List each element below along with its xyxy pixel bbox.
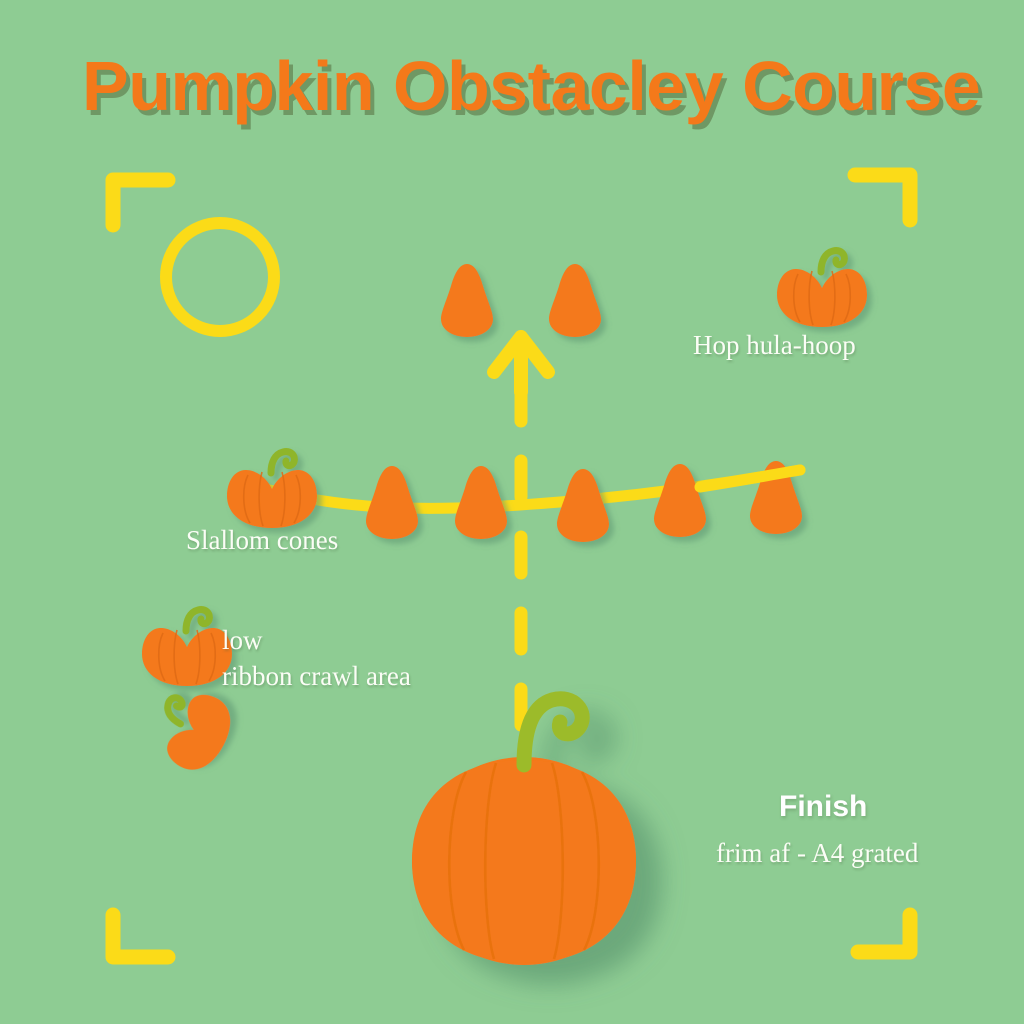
corner-bracket-bottom-right [858,915,910,952]
pumpkin-obstacle-course-poster: Pumpkin Obstacley Course Hop hula-hoop S… [0,0,1024,1024]
corner-bracket-top-right [855,175,910,220]
corner-bracket-bottom-left [113,915,168,957]
slalom-pumpkin [227,452,317,528]
hula-hoop-ring [166,223,274,331]
corner-bracket-top-left [113,180,168,225]
course-route-path [494,337,548,735]
finish-pumpkin [412,699,636,965]
hoop-pumpkin [777,251,867,327]
crawl-pumpkin [142,610,232,686]
slalom-cone-1 [366,466,418,539]
gate-cone-left [441,264,493,337]
slalom-cone-2 [455,466,507,539]
slalom-cone-3 [557,469,609,542]
course-illustration [0,0,1024,1024]
slalom-cone-4 [654,464,706,537]
crawl-gourd [145,679,242,779]
gate-cone-right [549,264,601,337]
